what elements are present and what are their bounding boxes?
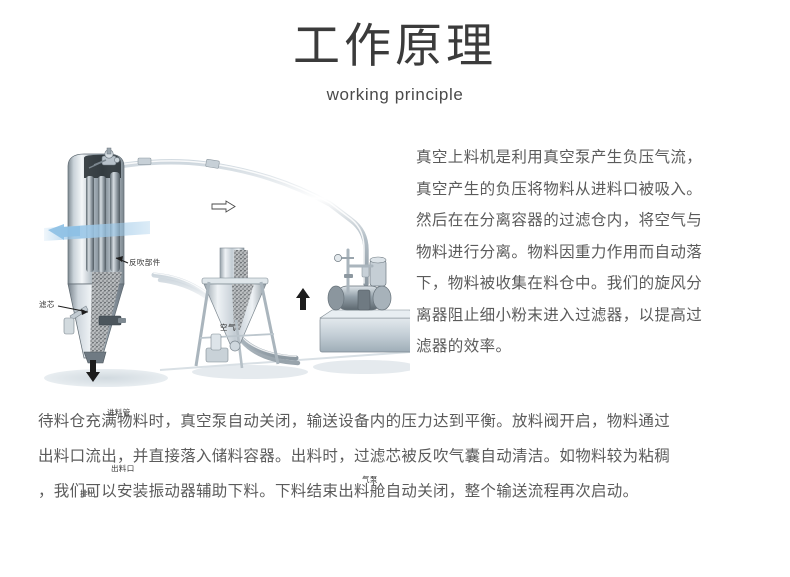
description-line: 物料进行分离。物料因重力作用而自动落 [416, 237, 776, 269]
discharge-valve [99, 316, 121, 325]
hopper-valve [230, 341, 240, 351]
diagram-label-filter-element: 滤芯 [39, 300, 55, 310]
description-line: 真空产生的负压将物料从进料口被吸入。 [416, 174, 776, 206]
air-pump-assembly [320, 250, 410, 352]
pump-coupling-guard [358, 290, 370, 310]
pipe-up-arrow [296, 288, 310, 310]
diagram-label-backblow-component: 反吹部件 [129, 258, 161, 268]
page-title: 工作原理 [0, 18, 790, 76]
page-subtitle: working principle [0, 82, 790, 108]
air-direction-arrow [212, 201, 235, 212]
pump-motor-cap-right [373, 286, 391, 310]
bottom-paragraph-line: 出料口流出，并直接落入储料容器。出料时，过滤芯被反吹气囊自动清洁。如物料较为粘稠 [38, 439, 760, 474]
pump-motor-cap-left [328, 286, 344, 310]
hopper-assembly [196, 248, 278, 368]
bottom-paragraph-line: 待料仓充满物料时，真空泵自动关闭，输送设备内的压力达到平衡。放料阀开启，物料通过 [38, 404, 760, 439]
filter-element-3 [110, 172, 120, 272]
pipe-coupling-1 [138, 158, 151, 165]
working-principle-diagram: 反吹部件 滤芯 空气 进料管 出料口 排出 气泵 [10, 120, 410, 395]
description-text-block: 真空上料机是利用真空泵产生负压气流， 真空产生的负压将物料从进料口被吸入。 然后… [416, 142, 776, 363]
diagram-label-air: 空气 [220, 323, 236, 333]
description-line: 下，物料被收集在料仓中。我们的旋风分 [416, 268, 776, 300]
filter-element-1 [86, 176, 94, 272]
ground-shadow-pump [313, 360, 410, 374]
diagram-svg [10, 120, 410, 395]
description-line: 滤器的效率。 [416, 331, 776, 363]
pump-pressure-gauge [334, 254, 341, 261]
bottom-paragraph-block: 待料仓充满物料时，真空泵自动关闭，输送设备内的压力达到平衡。放料阀开启，物料通过… [38, 404, 760, 509]
description-line: 离器阻止细小粉末进入过滤器，以提高过 [416, 300, 776, 332]
discharge-valve-stem [118, 318, 126, 323]
description-line: 真空上料机是利用真空泵产生负压气流， [416, 142, 776, 174]
description-line: 然后在在分离容器的过滤仓内，将空气与 [416, 205, 776, 237]
pipe-coupling-2 [206, 159, 220, 168]
pump-base [320, 318, 410, 352]
separator-foot [64, 318, 74, 334]
pump-base-top [320, 310, 410, 318]
pump-inlet-filter [370, 260, 386, 286]
pump-inlet-filter-cap [370, 257, 386, 263]
page-header: 工作原理 working principle [0, 18, 790, 108]
ground-shadow-left [44, 369, 168, 387]
bottom-paragraph-line: ，我们可以安装振动器辅助下料。下料结束出料舱自动关闭，整个输送流程再次启动。 [38, 474, 760, 509]
hopper-base-motor [211, 334, 221, 350]
pump-valve-handle [344, 274, 353, 278]
hopper-rim [202, 278, 268, 284]
